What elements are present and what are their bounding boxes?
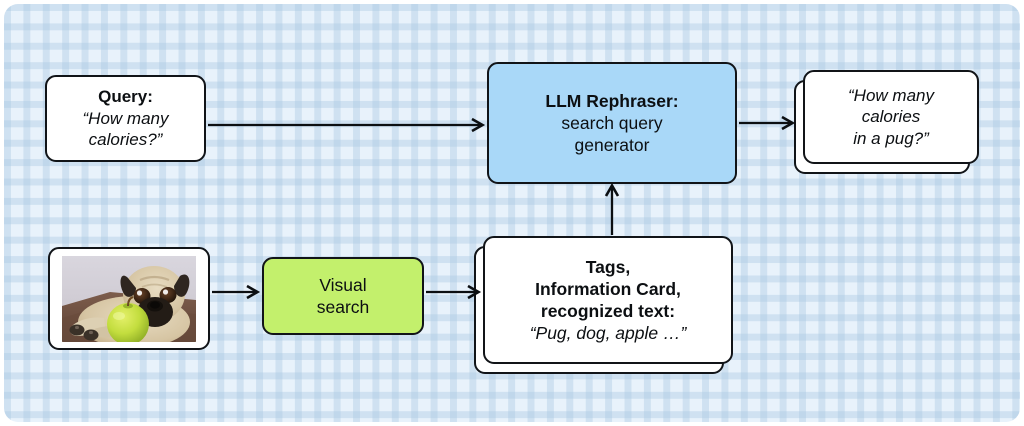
arrow-visual-search-to-tags bbox=[426, 286, 479, 298]
llm-line-3: generator bbox=[575, 134, 650, 156]
tags-node: Tags, Information Card, recognized text:… bbox=[483, 236, 733, 364]
pug-photo-illustration bbox=[62, 256, 196, 342]
query-label: Query: bbox=[98, 86, 153, 107]
input-image-node bbox=[48, 247, 210, 350]
visual-search-node: Visual search bbox=[262, 257, 424, 335]
visual-search-line-2: search bbox=[317, 296, 370, 318]
llm-rephraser-node: LLM Rephraser: search query generator bbox=[487, 62, 737, 184]
arrow-llm-to-output bbox=[739, 117, 793, 129]
query-text-1: “How many bbox=[83, 108, 169, 129]
arrow-tags-to-llm bbox=[606, 186, 618, 236]
tags-line-3: recognized text: bbox=[541, 300, 675, 322]
tags-line-1: Tags, bbox=[586, 256, 630, 278]
tags-line-4: “Pug, dog, apple …” bbox=[530, 322, 687, 344]
llm-line-1: LLM Rephraser: bbox=[545, 90, 678, 112]
pug-photo bbox=[62, 256, 196, 342]
arrow-image-to-visual-search bbox=[212, 286, 258, 298]
arrow-query-to-llm bbox=[208, 119, 483, 131]
output-line-2: calories bbox=[862, 106, 921, 127]
query-text-2: calories?” bbox=[89, 129, 163, 150]
query-node: Query: “How many calories?” bbox=[45, 75, 206, 162]
output-line-1: “How many bbox=[848, 85, 934, 106]
diagram-canvas: Query: “How many calories?” bbox=[4, 4, 1020, 422]
output-line-3: in a pug?” bbox=[853, 128, 929, 149]
tags-line-2: Information Card, bbox=[535, 278, 681, 300]
output-node: “How many calories in a pug?” bbox=[803, 70, 979, 164]
llm-line-2: search query bbox=[561, 112, 662, 134]
visual-search-line-1: Visual bbox=[319, 274, 366, 296]
